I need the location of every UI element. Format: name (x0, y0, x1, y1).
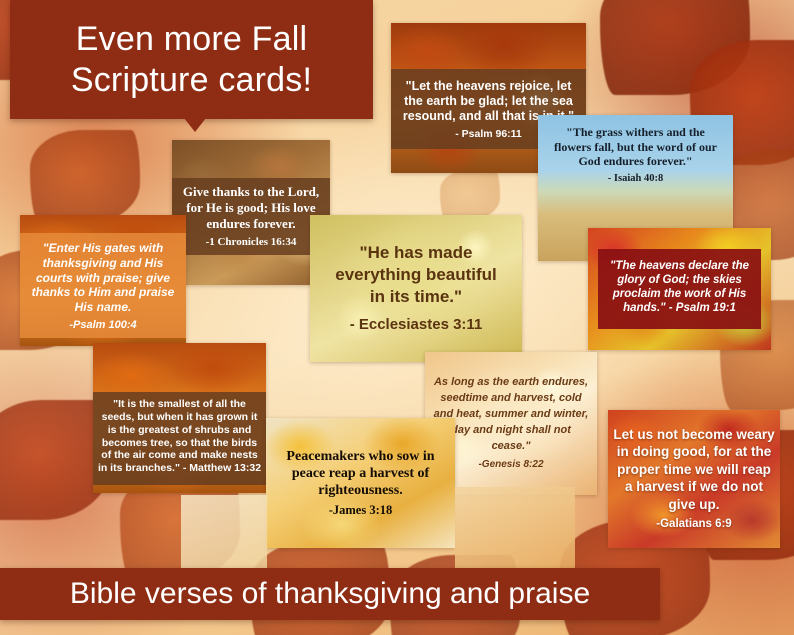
maple-leaf-decoration (600, 0, 750, 95)
verse-overlay: "Enter His gates with thanksgiving and H… (20, 233, 186, 338)
scripture-card-galatians-6-9[interactable]: Let us not become weary in doing good, f… (608, 410, 780, 548)
bottom-banner: Bible verses of thanksgiving and praise (0, 568, 660, 620)
verse-text: Give thanks to the Lord, for He is good;… (176, 184, 326, 232)
scripture-card-1-chronicles-16-34[interactable]: Give thanks to the Lord, for He is good;… (172, 140, 330, 285)
verse-reference: - Ecclesiastes 3:11 (332, 315, 500, 335)
verse-reference: -Psalm 100:4 (24, 319, 182, 332)
verse-overlay: Let us not become weary in doing good, f… (608, 424, 780, 535)
maple-leaf-decoration (440, 170, 500, 220)
verse-text: "He has made everything beautiful in its… (335, 243, 497, 306)
top-banner-line-2: Scripture cards! (71, 60, 312, 100)
verse-text: "Enter His gates with thanksgiving and H… (32, 241, 175, 314)
verse-text: As long as the earth endures, seedtime a… (434, 376, 589, 452)
top-banner: Even more Fall Scripture cards! (10, 0, 373, 119)
scripture-card-james-3-18[interactable]: Peacemakers who sow in peace reap a harv… (266, 418, 455, 548)
banner-tail-decoration (184, 118, 206, 132)
scripture-card-ecclesiastes-3-11[interactable]: "He has made everything beautiful in its… (310, 215, 522, 362)
verse-text: "It is the smallest of all the seeds, bu… (98, 398, 261, 474)
verse-overlay: Give thanks to the Lord, for He is good;… (172, 178, 330, 255)
background-photo-patch (181, 495, 267, 573)
verse-overlay: Peacemakers who sow in peace reap a harv… (266, 446, 455, 520)
scripture-card-poster: "Let the heavens rejoice, let the earth … (0, 0, 794, 635)
verse-reference: -Galatians 6:9 (613, 517, 775, 532)
verse-overlay: "The heavens declare the glory of God; t… (598, 249, 761, 329)
verse-text: Let us not become weary in doing good, f… (613, 427, 774, 512)
verse-reference: -James 3:18 (272, 503, 449, 518)
verse-reference: -1 Chronicles 16:34 (176, 236, 326, 249)
background-photo-patch (455, 487, 575, 569)
verse-text: "The grass withers and the flowers fall,… (554, 125, 717, 168)
verse-text: "The heavens declare the glory of God; t… (610, 260, 749, 314)
bottom-banner-text: Bible verses of thanksgiving and praise (70, 577, 590, 611)
verse-overlay: "It is the smallest of all the seeds, bu… (93, 392, 266, 485)
maple-leaf-decoration (30, 130, 140, 225)
verse-text: Peacemakers who sow in peace reap a harv… (286, 449, 434, 498)
scripture-card-matthew-13-32[interactable]: "It is the smallest of all the seeds, bu… (93, 343, 266, 493)
scripture-card-psalm-19-1[interactable]: "The heavens declare the glory of God; t… (588, 228, 771, 350)
verse-overlay: "He has made everything beautiful in its… (310, 238, 522, 339)
top-banner-line-1: Even more Fall (76, 19, 307, 59)
scripture-card-psalm-100-4[interactable]: "Enter His gates with thanksgiving and H… (20, 215, 186, 346)
verse-reference: - Isaiah 40:8 (547, 173, 724, 186)
verse-overlay: "The grass withers and the flowers fall,… (538, 115, 733, 186)
verse-reference: -Genesis 8:22 (431, 458, 591, 473)
